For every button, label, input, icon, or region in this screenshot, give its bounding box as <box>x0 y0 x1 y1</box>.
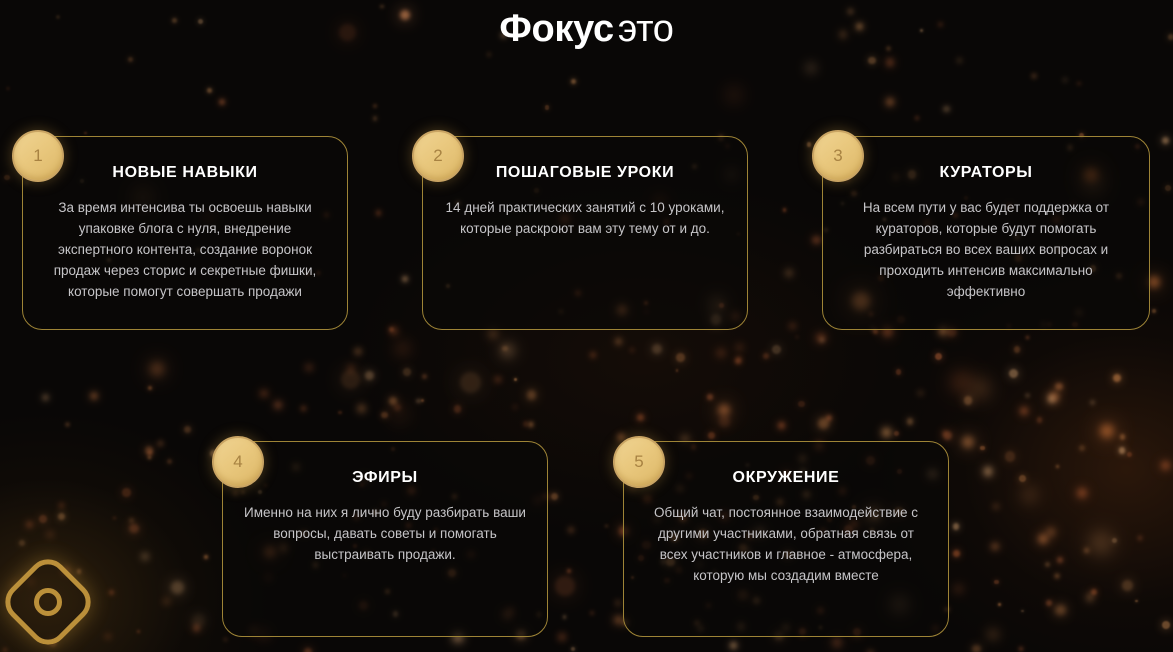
bokeh-dot <box>1046 600 1052 606</box>
bokeh-dot <box>616 601 620 605</box>
bokeh-dot <box>1019 647 1024 652</box>
bokeh-dot <box>529 422 533 426</box>
bokeh-dot <box>915 116 919 120</box>
bokeh-dot <box>991 543 999 551</box>
bokeh-dot <box>1046 527 1056 537</box>
bokeh-dot <box>785 269 793 277</box>
bokeh-dot <box>26 521 33 528</box>
bokeh-dot <box>727 88 741 102</box>
bokeh-dot <box>806 63 816 73</box>
bokeh-dot <box>1161 461 1170 470</box>
bokeh-dot <box>778 422 785 429</box>
bokeh-dot <box>1112 538 1117 543</box>
bokeh-dot <box>274 401 282 409</box>
bokeh-dot <box>145 446 154 455</box>
bokeh-dot <box>964 396 972 404</box>
bokeh-dot <box>789 323 796 330</box>
bokeh-dot <box>1162 621 1170 629</box>
bokeh-dot <box>918 391 923 396</box>
feature-card-1-body: За время интенсива ты освоешь навыки упа… <box>43 197 327 302</box>
bokeh-dot <box>730 642 737 649</box>
bokeh-dot <box>460 372 481 393</box>
bokeh-dot <box>381 412 387 418</box>
bokeh-dot <box>942 430 948 436</box>
bokeh-dot <box>184 426 192 434</box>
feature-card-2-title: ПОШАГОВЫЕ УРОКИ <box>443 163 727 183</box>
bokeh-dot <box>886 58 895 67</box>
bokeh-dot <box>563 615 567 619</box>
bokeh-dot <box>1019 475 1026 482</box>
bokeh-dot <box>204 555 208 559</box>
bokeh-dot <box>676 369 679 372</box>
bokeh-dot <box>105 634 110 639</box>
feature-card-5[interactable]: ОКРУЖЕНИЕ Общий чат, постоянное взаимоде… <box>623 441 949 637</box>
bokeh-dot <box>148 450 152 454</box>
feature-card-2-body: 14 дней практических занятий с 10 урокам… <box>443 197 727 239</box>
bokeh-dot <box>708 432 715 439</box>
bokeh-dot <box>47 532 53 538</box>
bokeh-dot <box>907 418 914 425</box>
bokeh-dot <box>993 504 999 510</box>
bokeh-dot <box>1005 451 1015 461</box>
bokeh-dot <box>896 369 902 375</box>
slide-background: Фокусэто НОВЫЕ НАВЫКИ За время интенсива… <box>0 0 1173 652</box>
bokeh-dot-bright <box>1100 424 1114 438</box>
bokeh-dot <box>523 421 528 426</box>
bokeh-dot <box>676 353 685 362</box>
bokeh-dot <box>1084 548 1090 554</box>
bokeh-dot <box>1020 407 1028 415</box>
bokeh-dot <box>1037 417 1043 423</box>
bokeh-dot <box>1086 593 1095 602</box>
bokeh-dot <box>590 352 596 358</box>
bokeh-dot <box>1113 374 1121 382</box>
bokeh-dot <box>402 276 408 282</box>
bokeh-dot <box>113 517 116 520</box>
bokeh-dot <box>58 513 65 520</box>
bokeh-dot <box>454 405 462 413</box>
bokeh-dot <box>192 614 205 627</box>
feature-card-2-content: ПОШАГОВЫЕ УРОКИ 14 дней практических зан… <box>423 137 747 257</box>
bokeh-dot <box>1120 434 1125 439</box>
bokeh-dot <box>416 399 421 404</box>
bokeh-dot <box>1056 465 1060 469</box>
bokeh-dot <box>1090 532 1112 554</box>
bokeh-dot <box>304 648 313 652</box>
bokeh-dot <box>652 344 662 354</box>
bokeh-dot <box>59 503 64 508</box>
bokeh-dot <box>972 645 981 652</box>
bokeh-dot <box>1127 452 1132 457</box>
feature-card-2-number: 2 <box>433 147 442 165</box>
bokeh-dot <box>772 345 781 354</box>
bokeh-dot <box>514 378 517 381</box>
bokeh-dot <box>1077 488 1087 498</box>
bokeh-dot <box>137 630 140 633</box>
feature-card-1-title: НОВЫЕ НАВЫКИ <box>43 163 327 183</box>
bokeh-dot <box>980 446 984 450</box>
bokeh-dot <box>389 397 397 405</box>
feature-card-3-number-badge: 3 <box>812 130 864 182</box>
bokeh-dot <box>882 428 891 437</box>
bokeh-dot <box>129 518 135 524</box>
bokeh-dot <box>1055 605 1066 616</box>
bokeh-dot <box>142 554 148 560</box>
bokeh-dot <box>953 584 964 595</box>
bokeh-dot <box>390 327 398 335</box>
feature-card-2-number-badge: 2 <box>412 130 464 182</box>
bokeh-dot <box>812 236 821 245</box>
feature-card-3-title: КУРАТОРЫ <box>843 163 1129 183</box>
bokeh-dot-bright <box>150 362 164 376</box>
bokeh-dot <box>987 629 999 641</box>
feature-card-3-number: 3 <box>833 147 842 165</box>
bokeh-dot <box>816 333 826 343</box>
feature-card-5-content: ОКРУЖЕНИЕ Общий чат, постоянное взаимоде… <box>624 442 948 604</box>
bokeh-dot-bright <box>962 436 974 448</box>
bokeh-dot <box>389 327 394 332</box>
feature-card-5-number-badge: 5 <box>613 436 665 488</box>
bokeh-dot <box>1038 534 1048 544</box>
feature-card-4-content: ЭФИРЫ Именно на них я лично буду разбира… <box>223 442 547 583</box>
bokeh-dot <box>219 99 225 105</box>
bokeh-dot <box>373 116 378 121</box>
bokeh-dot <box>129 524 139 534</box>
bokeh-dot <box>422 374 427 379</box>
bokeh-dot <box>998 603 1001 606</box>
bokeh-dot <box>1063 78 1067 82</box>
bokeh-dot <box>590 611 594 615</box>
bokeh-dot <box>164 599 169 604</box>
bokeh-dot <box>567 569 571 573</box>
bokeh-dot <box>763 353 769 359</box>
bokeh-dot <box>128 57 133 62</box>
bokeh-dot <box>984 467 993 476</box>
bokeh-dot <box>77 569 82 574</box>
bokeh-dot <box>207 88 212 93</box>
feature-card-1-number-badge: 1 <box>12 130 64 182</box>
feature-card-1-number: 1 <box>33 147 42 165</box>
bokeh-dot <box>618 434 624 440</box>
feature-card-3-body: На всем пути у вас будет поддержка от ку… <box>843 197 1129 302</box>
bokeh-dot <box>1162 137 1170 145</box>
bokeh-dot <box>637 414 644 421</box>
bokeh-dot <box>1026 336 1029 339</box>
bokeh-dot <box>421 399 425 403</box>
bokeh-dot <box>1055 383 1063 391</box>
bokeh-dot <box>394 404 401 411</box>
bokeh-dot <box>39 515 47 523</box>
feature-card-5-title: ОКРУЖЕНИЕ <box>644 468 928 488</box>
bokeh-dot <box>1152 309 1156 313</box>
bokeh-dot <box>355 349 361 355</box>
bokeh-dot <box>122 488 131 497</box>
bokeh-dot-bright <box>718 404 730 416</box>
bokeh-dot <box>158 441 163 446</box>
bokeh-dot <box>1049 392 1058 401</box>
bokeh-dot <box>148 386 153 391</box>
bokeh-dot <box>615 338 622 345</box>
bokeh-dot <box>950 371 972 393</box>
bokeh-dot <box>1165 185 1171 191</box>
feature-card-4-body: Именно на них я лично буду разбирать ваш… <box>243 502 527 565</box>
bokeh-dot <box>716 348 726 358</box>
page-title-strong: Фокус <box>499 8 614 50</box>
bokeh-dot <box>502 346 507 351</box>
bokeh-dot <box>1122 580 1133 591</box>
feature-card-3-content: КУРАТОРЫ На всем пути у вас будет поддер… <box>823 137 1149 320</box>
bokeh-dot <box>1021 486 1039 504</box>
bokeh-dot <box>1119 447 1126 454</box>
bokeh-dot <box>488 53 491 56</box>
bokeh-dot <box>820 338 824 342</box>
bokeh-dot <box>614 616 623 625</box>
bokeh-dot <box>513 405 517 409</box>
bokeh-dot <box>826 415 832 421</box>
bokeh-dot <box>971 380 989 398</box>
bokeh-dot <box>338 411 342 415</box>
bokeh-dot <box>19 540 25 546</box>
bokeh-dot <box>630 348 634 352</box>
feature-card-5-number: 5 <box>634 453 643 471</box>
bokeh-dot <box>832 637 842 647</box>
bokeh-dot <box>376 210 382 216</box>
bokeh-dot <box>3 648 7 652</box>
bokeh-dot <box>818 418 829 429</box>
feature-card-4-number: 4 <box>233 453 242 471</box>
bokeh-dot <box>1079 445 1085 451</box>
bokeh-dot <box>84 132 87 135</box>
page-title: Фокусэто <box>0 6 1173 52</box>
bokeh-dot <box>365 371 374 380</box>
bokeh-dot <box>1032 74 1036 78</box>
bokeh-dot <box>707 394 712 399</box>
bokeh-dot <box>957 58 962 63</box>
bokeh-dot <box>1021 610 1024 613</box>
bokeh-dot <box>737 357 742 362</box>
bokeh-dot <box>488 329 498 339</box>
feature-card-1-content: НОВЫЕ НАВЫКИ За время интенсива ты освое… <box>23 137 347 320</box>
bokeh-dot <box>886 98 894 106</box>
bokeh-dot <box>341 370 360 389</box>
bokeh-dot <box>66 423 69 426</box>
bokeh-dot <box>1091 589 1097 595</box>
feature-card-1[interactable]: НОВЫЕ НАВЫКИ За время интенсива ты освое… <box>22 136 348 330</box>
bokeh-dot <box>347 364 356 373</box>
bokeh-dot <box>571 647 575 651</box>
bokeh-dot <box>545 105 550 110</box>
bokeh-dot <box>1057 557 1063 563</box>
bokeh-dot <box>735 358 741 364</box>
bokeh-dot <box>495 377 500 382</box>
bokeh-dot <box>500 343 515 358</box>
bokeh-dot <box>807 142 812 147</box>
bokeh-dot <box>167 459 172 464</box>
bokeh-dot <box>894 431 899 436</box>
bokeh-dot <box>555 576 574 595</box>
bokeh-dot <box>719 416 730 427</box>
feature-card-4-title: ЭФИРЫ <box>243 468 527 488</box>
page-title-light: это <box>618 8 674 50</box>
bokeh-dot <box>1009 369 1018 378</box>
bokeh-dot <box>42 394 49 401</box>
bokeh-dot <box>373 104 377 108</box>
bokeh-dot <box>403 368 411 376</box>
bokeh-dot <box>571 79 576 84</box>
bokeh-dot <box>1048 395 1056 403</box>
bokeh-dot <box>953 523 960 530</box>
bokeh-dot <box>994 580 999 585</box>
bokeh-dot <box>943 106 949 112</box>
bokeh-dot <box>783 208 787 212</box>
bokeh-dot <box>1135 600 1138 603</box>
bokeh-dot <box>171 581 184 594</box>
bokeh-dot <box>953 550 960 557</box>
bokeh-dot <box>605 525 608 528</box>
bokeh-dot <box>943 431 952 440</box>
bokeh-dot <box>868 57 875 64</box>
bokeh-dot <box>1077 82 1081 86</box>
bokeh-dot <box>109 590 114 595</box>
bokeh-dot <box>148 456 151 459</box>
bokeh-dot <box>396 342 410 356</box>
bokeh-dot <box>4 175 10 181</box>
feature-card-5-body: Общий чат, постоянное взаимодействие с д… <box>644 502 928 586</box>
bokeh-dot <box>260 390 268 398</box>
bokeh-dot <box>1055 574 1059 578</box>
bokeh-dot <box>305 364 312 371</box>
bokeh-dot <box>1138 536 1142 540</box>
bokeh-dot <box>358 405 365 412</box>
bokeh-dot <box>796 336 798 338</box>
bokeh-dot <box>736 344 743 351</box>
feature-card-4[interactable]: ЭФИРЫ Именно на них я лично буду разбира… <box>222 441 548 637</box>
bokeh-dot <box>393 408 405 420</box>
bokeh-dot <box>568 527 574 533</box>
bokeh-dot <box>551 493 558 500</box>
bokeh-dot <box>1014 346 1021 353</box>
bokeh-dot <box>1045 562 1050 567</box>
feature-card-2[interactable]: ПОШАГОВЫЕ УРОКИ 14 дней практических зан… <box>422 136 748 330</box>
bokeh-dot <box>7 87 9 89</box>
bokeh-dot <box>90 392 99 401</box>
bokeh-dot <box>527 390 537 400</box>
feature-card-4-number-badge: 4 <box>212 436 264 488</box>
bokeh-dot <box>1026 394 1029 397</box>
bokeh-dot <box>935 353 942 360</box>
bokeh-dot <box>301 406 306 411</box>
bokeh-dot <box>559 634 565 640</box>
bokeh-dot <box>224 638 227 641</box>
bokeh-dot <box>193 624 201 632</box>
feature-card-3[interactable]: КУРАТОРЫ На всем пути у вас будет поддер… <box>822 136 1150 330</box>
bokeh-dot <box>1090 400 1095 405</box>
instagram-rounded-square-icon <box>0 551 99 652</box>
bokeh-dot <box>798 401 805 408</box>
